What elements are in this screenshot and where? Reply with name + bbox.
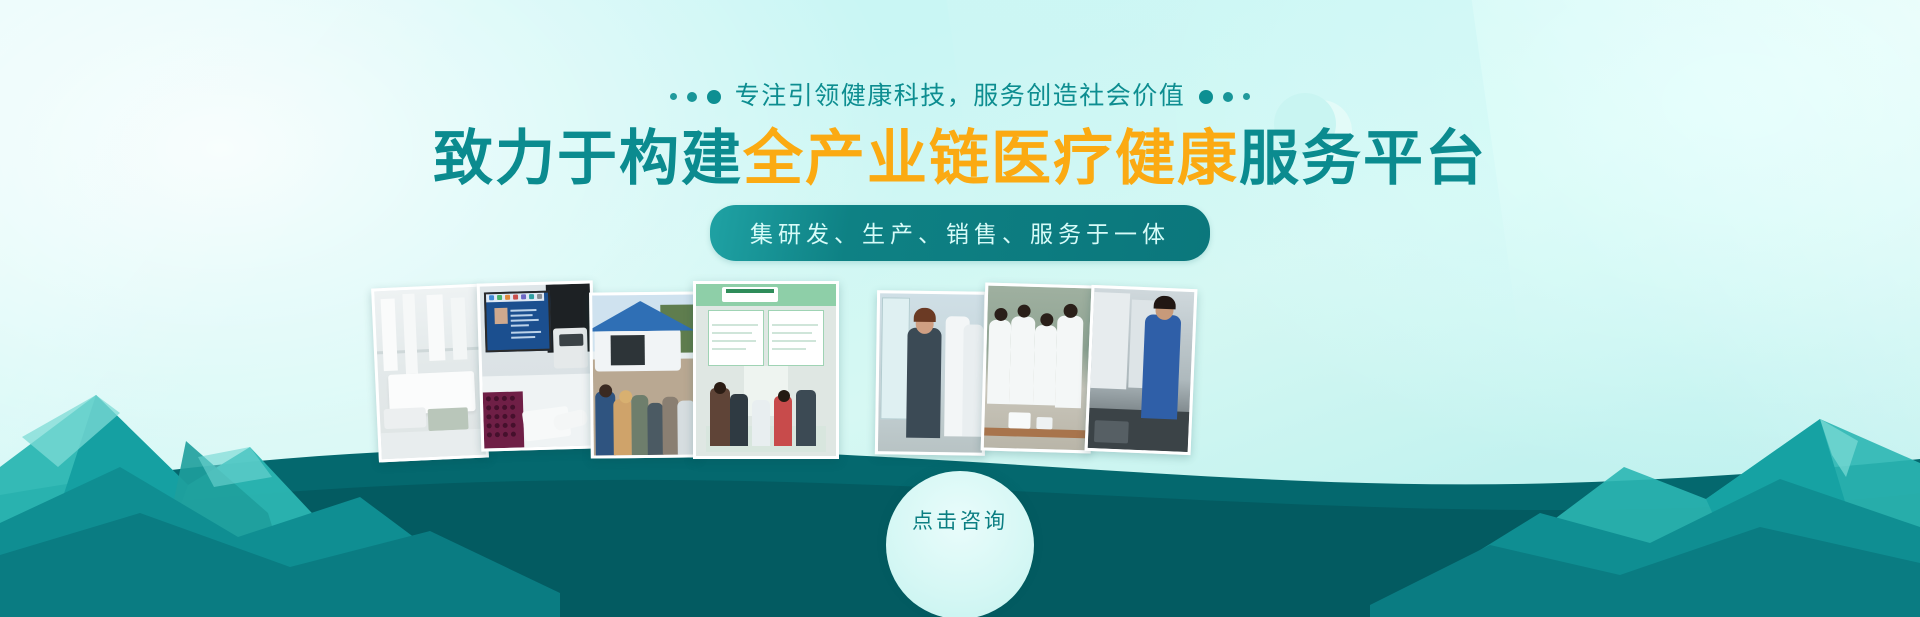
eyebrow-dots-left-icon — [670, 90, 721, 104]
consult-cta-label: 点击咨询 — [912, 505, 1008, 535]
photo-white-medical-equipment-room — [371, 284, 489, 463]
decorative-mountains-right — [1220, 367, 1920, 617]
promo-banner: 专注引领健康科技，服务创造社会价值 致力于构建全产业链医疗健康服务平台 集研发、… — [0, 0, 1920, 617]
photo-strip — [375, 282, 1195, 462]
headline-tail: 服务平台 — [1239, 125, 1487, 192]
headline-highlight: 全产业链医疗健康 — [743, 125, 1239, 192]
background-light-wash-right — [1080, 0, 1920, 520]
photo-doctors-outdoor-desks — [981, 282, 1096, 453]
eyebrow-dots-right-icon — [1199, 90, 1250, 104]
background-sweep-right — [1200, 0, 1920, 500]
photo-hospital-corridor-patient — [875, 290, 987, 456]
photo-blue-coat-equipment-operator — [1085, 285, 1198, 455]
headline-lead: 致力于构建 — [433, 125, 743, 192]
photo-lab-analyzer-workstation — [477, 280, 598, 451]
photo-outdoor-clinic-tent-crowd — [589, 291, 699, 458]
eyebrow-text: 专注引领健康科技，服务创造社会价值 — [735, 84, 1186, 109]
eyebrow-row: 专注引领健康科技，服务创造社会价值 — [0, 84, 1920, 109]
subtitle-pill: 集研发、生产、销售、服务于一体 — [710, 205, 1210, 261]
consult-cta-button[interactable]: 点击咨询 — [886, 471, 1034, 617]
page-title: 致力于构建全产业链医疗健康服务平台 — [0, 124, 1920, 195]
photo-green-health-booth — [693, 281, 839, 459]
